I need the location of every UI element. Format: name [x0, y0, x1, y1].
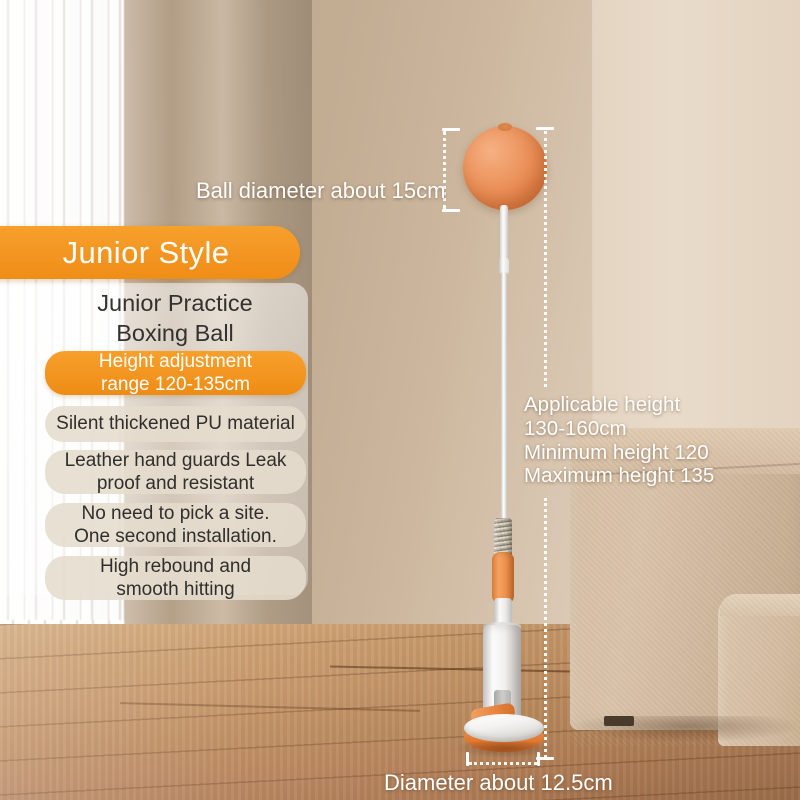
applicable-height-annotation: Applicable height 130-160cm Minimum heig… [524, 393, 714, 488]
base-bracket-dotted-line [469, 762, 537, 765]
ball-diameter-annotation: Ball diameter about 15cm [196, 178, 445, 204]
sofa-leg [604, 716, 634, 726]
middle-rod-segment [501, 272, 507, 522]
height-guide-dotted-upper [544, 131, 547, 387]
feature-text: High rebound and smooth hitting [100, 555, 251, 601]
product-title: Junior Practice Boxing Ball [44, 288, 306, 348]
boxing-ball [463, 126, 547, 210]
orange-grip-collar [492, 552, 514, 604]
product-photo-scene: Ball diameter about 15cm Applicable heig… [0, 0, 800, 800]
feature-pill-rebound: High rebound and smooth hitting [45, 556, 306, 600]
feature-text: Leather hand guards Leak proof and resis… [65, 449, 287, 495]
style-badge-label: Junior Style [37, 235, 230, 271]
feature-pill-pu-material: Silent thickened PU material [45, 406, 306, 442]
feature-text: No need to pick a site. One second insta… [74, 502, 277, 548]
feature-text: Silent thickened PU material [56, 412, 295, 435]
ball-bracket-bottom-cap [442, 209, 460, 212]
feature-text: Height adjustment range 120-135cm [99, 350, 252, 396]
feature-pill-installation: No need to pick a site. One second insta… [45, 503, 306, 547]
base-diameter-annotation: Diameter about 12.5cm [384, 770, 613, 796]
ball-valve-nub [498, 123, 512, 131]
base-bracket-right-cap [537, 752, 540, 766]
base-disc [464, 714, 544, 742]
height-guide-top-cap [536, 127, 554, 130]
feature-pill-height-adjustment: Height adjustment range 120-135cm [45, 351, 306, 395]
feature-pill-hand-guards: Leather hand guards Leak proof and resis… [45, 450, 306, 494]
height-guide-dotted-lower [544, 498, 547, 758]
sofa-armrest-top [720, 594, 800, 616]
style-badge: Junior Style [0, 226, 300, 279]
